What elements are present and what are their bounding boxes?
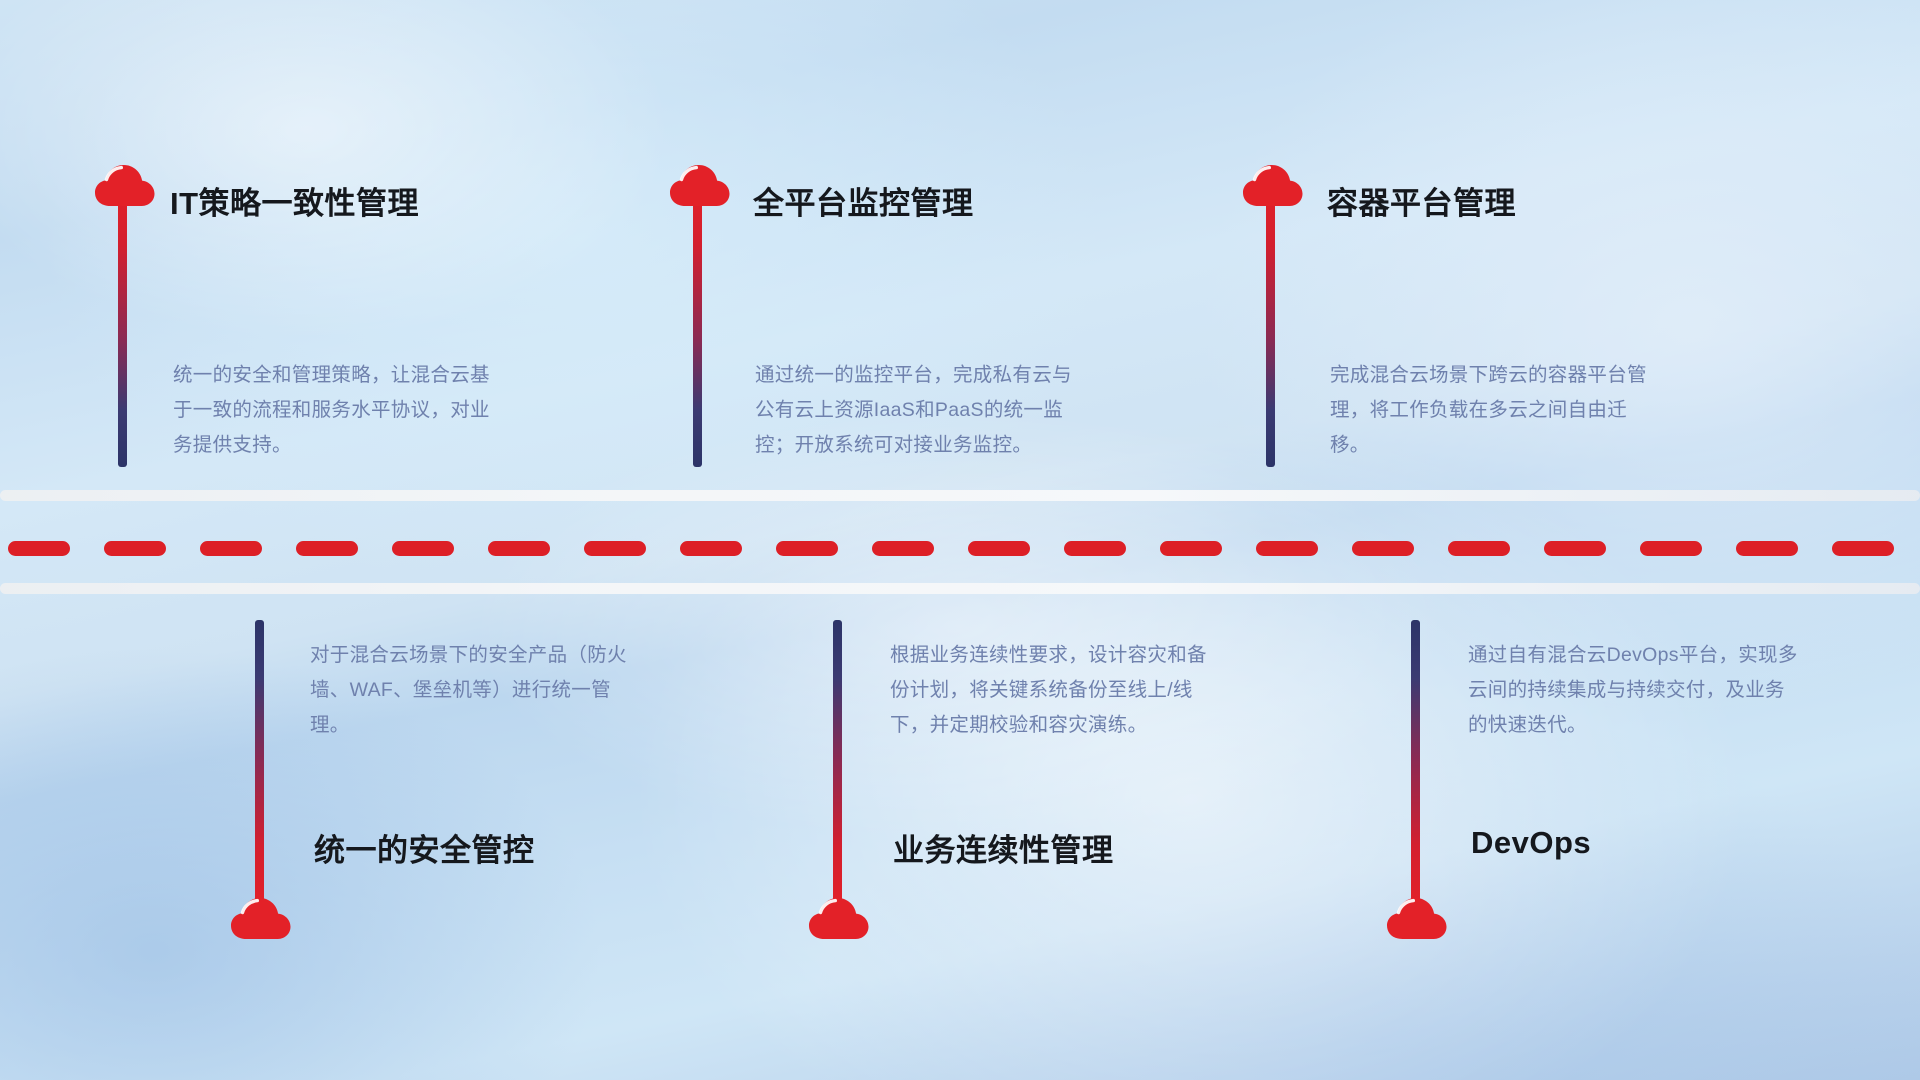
bottom-title-2: 业务连续性管理	[893, 825, 1114, 870]
road-dash	[1640, 541, 1702, 556]
road-dash	[488, 541, 550, 556]
road-dash	[392, 541, 454, 556]
road-dash	[1544, 541, 1606, 556]
connector-line-bottom-1	[255, 620, 264, 910]
connector-line-top-3	[1266, 182, 1275, 467]
cloud-icon	[668, 162, 732, 208]
road-dash	[680, 541, 742, 556]
road-dash	[8, 541, 70, 556]
road-dash	[1448, 541, 1510, 556]
bottom-body-1: 对于混合云场景下的安全产品（防火墙、WAF、堡垒机等）进行统一管理。	[310, 638, 645, 743]
bottom-body-3: 通过自有混合云DevOps平台，实现多云间的持续集成与持续交付，及业务的快速迭代…	[1468, 638, 1803, 743]
top-body-3: 完成混合云场景下跨云的容器平台管理，将工作负载在多云之间自由迁移。	[1330, 358, 1665, 463]
road-rail-bottom	[0, 583, 1920, 594]
top-title-3: 容器平台管理	[1327, 178, 1516, 223]
road-dash	[1256, 541, 1318, 556]
top-body-1: 统一的安全和管理策略，让混合云基于一致的流程和服务水平协议，对业务提供支持。	[173, 358, 508, 463]
connector-line-top-1	[118, 182, 127, 467]
connector-line-bottom-2	[833, 620, 842, 910]
infographic-canvas: IT策略一致性管理 统一的安全和管理策略，让混合云基于一致的流程和服务水平协议，…	[0, 0, 1920, 1080]
road-dash	[584, 541, 646, 556]
road-center-dashes	[0, 540, 1920, 556]
top-body-2: 通过统一的监控平台，完成私有云与公有云上资源IaaS和PaaS的统一监控；开放系…	[755, 358, 1090, 463]
road-dash	[1832, 541, 1894, 556]
connector-line-top-2	[693, 182, 702, 467]
road-rail-top	[0, 490, 1920, 501]
top-title-2: 全平台监控管理	[753, 178, 974, 223]
road-dash	[296, 541, 358, 556]
road-dash	[200, 541, 262, 556]
bottom-title-3: DevOps	[1471, 825, 1591, 861]
cloud-icon	[93, 162, 157, 208]
road-dash	[776, 541, 838, 556]
cloud-icon	[807, 895, 871, 941]
road-dash	[872, 541, 934, 556]
cloud-icon	[1241, 162, 1305, 208]
connector-line-bottom-3	[1411, 620, 1420, 910]
cloud-icon	[1385, 895, 1449, 941]
cloud-icon	[229, 895, 293, 941]
road-dash	[104, 541, 166, 556]
bottom-title-1: 统一的安全管控	[314, 825, 535, 870]
top-title-1: IT策略一致性管理	[170, 178, 419, 223]
road-dash	[1064, 541, 1126, 556]
bottom-body-2: 根据业务连续性要求，设计容灾和备份计划，将关键系统备份至线上/线下，并定期校验和…	[890, 638, 1225, 743]
road-dash	[1736, 541, 1798, 556]
road-dash	[968, 541, 1030, 556]
road-dash	[1352, 541, 1414, 556]
road-dash	[1160, 541, 1222, 556]
